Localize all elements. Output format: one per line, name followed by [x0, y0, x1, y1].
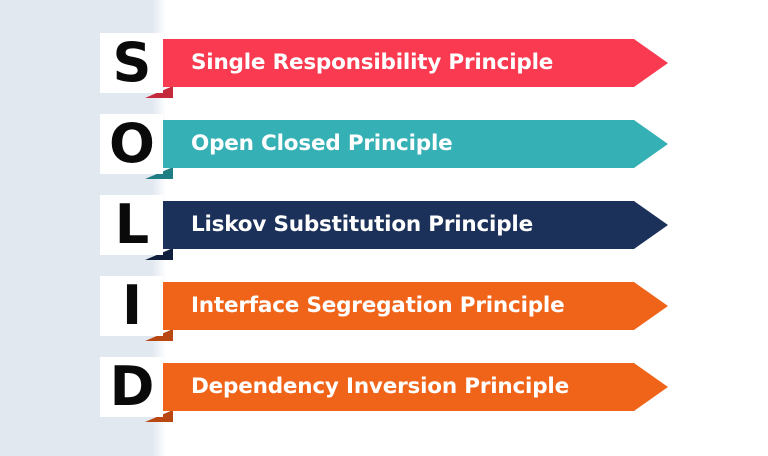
banner-label-l: Liskov Substitution Principle	[191, 214, 533, 236]
banner-arrow-s[interactable]: Single Responsibility Principle	[155, 39, 668, 87]
solid-principles-diagram: S Single Responsibility Principle O Open…	[0, 0, 768, 456]
banner-arrow-l[interactable]: Liskov Substitution Principle	[155, 201, 668, 249]
banner-arrow-i[interactable]: Interface Segregation Principle	[155, 282, 668, 330]
letter-card-d: D	[100, 357, 163, 417]
letter-glyph-d: D	[110, 360, 154, 414]
banner-wrap-d: Dependency Inversion Principle	[155, 363, 668, 411]
letter-card-l: L	[100, 195, 163, 255]
banner-arrow-o[interactable]: Open Closed Principle	[155, 120, 668, 168]
letter-glyph-l: L	[115, 198, 148, 252]
letter-card-s: S	[100, 33, 163, 93]
banner-wrap-s: Single Responsibility Principle	[155, 39, 668, 87]
banner-label-o: Open Closed Principle	[191, 133, 453, 155]
banner-arrow-d[interactable]: Dependency Inversion Principle	[155, 363, 668, 411]
letter-card-i: I	[100, 276, 163, 336]
banner-label-d: Dependency Inversion Principle	[191, 376, 569, 398]
letter-glyph-i: I	[122, 279, 141, 333]
banner-wrap-o: Open Closed Principle	[155, 120, 668, 168]
letter-card-o: O	[100, 114, 163, 174]
letter-glyph-o: O	[109, 117, 154, 171]
banner-label-s: Single Responsibility Principle	[191, 52, 553, 74]
banner-label-i: Interface Segregation Principle	[191, 295, 564, 317]
banner-wrap-l: Liskov Substitution Principle	[155, 201, 668, 249]
banner-wrap-i: Interface Segregation Principle	[155, 282, 668, 330]
letter-glyph-s: S	[113, 36, 151, 90]
